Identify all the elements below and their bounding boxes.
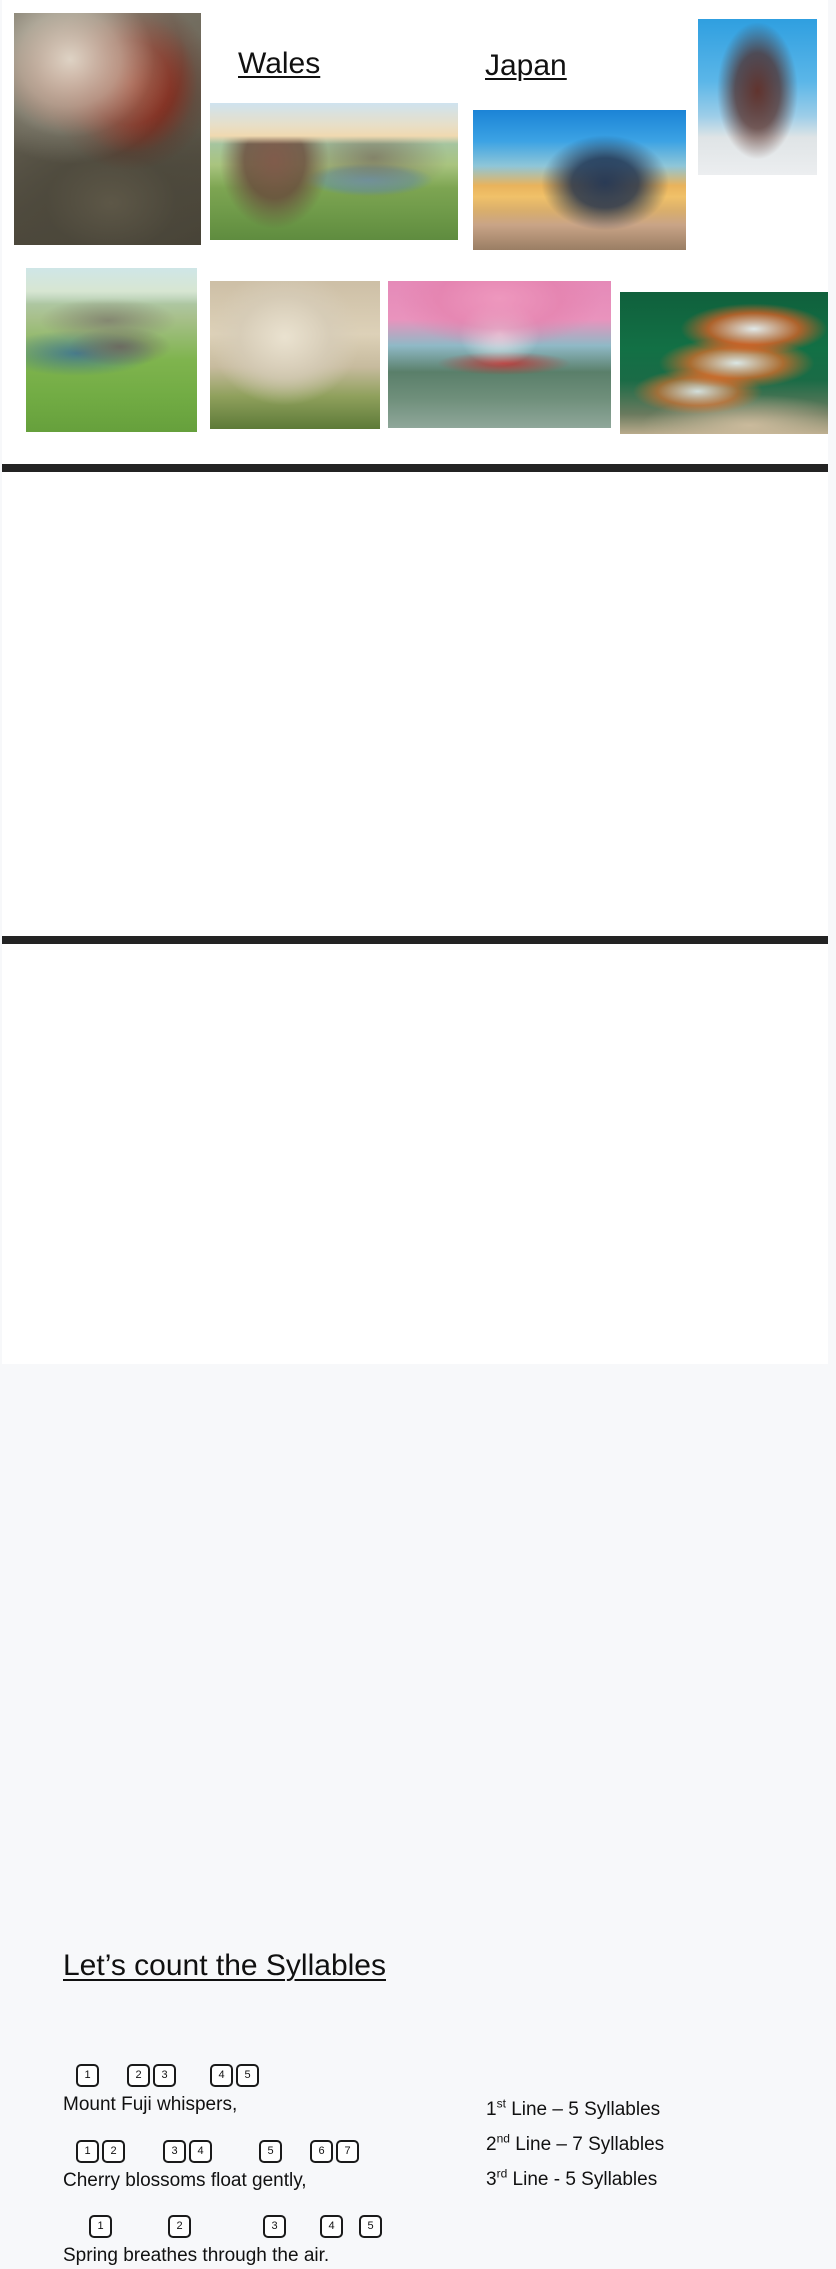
syllable-line-block-3: 12345 Spring breathes through the air.: [63, 2215, 329, 2269]
syllable-chip: 1: [76, 2140, 99, 2163]
japan-title: Japan: [485, 49, 567, 83]
syllable-line-text-3: Spring breathes through the air.: [63, 2243, 329, 2269]
count-line-rule-3-ordinal: 3: [486, 2169, 497, 2190]
page-edge-left: [0, 0, 2, 1408]
syllable-chip: 3: [263, 2215, 286, 2238]
syllable-chip: 5: [236, 2064, 259, 2087]
syllable-chip: 4: [320, 2215, 343, 2238]
syllable-chip: 1: [76, 2064, 99, 2087]
syllable-line-block-2: 1234567 Cherry blossoms float gently,: [63, 2140, 307, 2194]
count-line-rule-2-ordinal: 2: [486, 2134, 497, 2155]
syllable-chip: 2: [102, 2140, 125, 2163]
count-line-rule-2-text: Line – 7 Syllables: [510, 2134, 664, 2155]
count-line-rule-3-suffix: rd: [497, 2167, 508, 2181]
mount-fuji-photo: [473, 110, 686, 250]
welsh-sheep-photo: [210, 281, 380, 429]
count-line-rule-1-ordinal: 1: [486, 2099, 497, 2120]
koi-fish-photo: [620, 292, 836, 434]
slide-images: Wales Japan: [0, 0, 836, 465]
count-line-rule-3-text: Line - 5 Syllables: [507, 2169, 657, 2190]
syllable-line-text-1: Mount Fuji whispers,: [63, 2092, 237, 2118]
syllable-chip: 2: [168, 2215, 191, 2238]
syllable-chip-row-2: 1234567: [63, 2140, 307, 2166]
count-line-rule-1-suffix: st: [497, 2097, 506, 2111]
syllable-chip: 3: [153, 2064, 176, 2087]
syllable-chip-row-1: 12345: [63, 2064, 237, 2090]
count-line-rule-1: 1st Line – 5 Syllables: [486, 2092, 660, 2127]
syllable-count-heading: Let’s count the Syllables: [63, 1949, 386, 1983]
slide-divider-1: [0, 464, 836, 472]
syllable-chip: 5: [359, 2215, 382, 2238]
count-line-rule-2-suffix: nd: [497, 2132, 510, 2146]
syllable-line-block-1: 12345 Mount Fuji whispers,: [63, 2064, 237, 2118]
wales-title: Wales: [238, 47, 320, 81]
welsh-red-dragon-photo: [14, 13, 201, 245]
syllable-line-text-2: Cherry blossoms float gently,: [63, 2168, 307, 2194]
slide-divider-2: [0, 936, 836, 944]
syllable-chip: 4: [210, 2064, 233, 2087]
syllable-chip: 3: [163, 2140, 186, 2163]
syllable-chip: 5: [259, 2140, 282, 2163]
syllable-chip: 1: [89, 2215, 112, 2238]
syllable-chip: 6: [310, 2140, 333, 2163]
count-line-rule-3: 3rd Line - 5 Syllables: [486, 2162, 657, 2197]
syllable-chip: 2: [127, 2064, 150, 2087]
slide-haiku-intro: We are going to write a Haiku Poem This …: [0, 472, 836, 937]
wales-landscape-photo: [210, 103, 458, 240]
japanese-pagoda-photo: [698, 19, 817, 175]
count-line-rule-1-text: Line – 5 Syllables: [506, 2099, 660, 2120]
slide-deck: Wales Japan We are going to write a Haik…: [0, 0, 836, 1408]
syllable-chip-row-3: 12345: [63, 2215, 329, 2241]
page-edge-right: [828, 0, 836, 1408]
cherry-blossom-castle-photo: [388, 281, 611, 428]
count-line-rule-2: 2nd Line – 7 Syllables: [486, 2127, 664, 2162]
welsh-castle-photo: [26, 268, 197, 432]
syllable-chip: 4: [189, 2140, 212, 2163]
syllable-chip: 7: [336, 2140, 359, 2163]
slide-syllable-count: Let’s count the Syllables 12345 Mount Fu…: [0, 944, 836, 1364]
